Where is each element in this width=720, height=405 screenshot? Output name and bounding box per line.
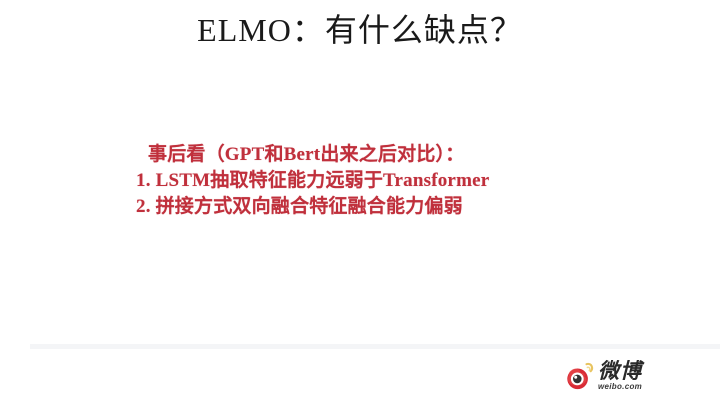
footer-divider-band (30, 344, 720, 349)
slide-body: 事后看（GPT和Bert出来之后对比）： 1. LSTM抽取特征能力远弱于Tra… (136, 142, 606, 220)
body-list-item-1: 1. LSTM抽取特征能力远弱于Transformer (136, 168, 606, 194)
watermark-text-group: 微博 weibo.com (598, 361, 642, 391)
body-lead-line: 事后看（GPT和Bert出来之后对比）： (148, 142, 606, 168)
page-title: ELMO：有什么缺点？ (0, 8, 720, 52)
watermark-url: weibo.com (598, 383, 642, 391)
watermark-brand-name: 微博 (598, 361, 642, 382)
body-list-item-2: 2. 拼接方式双向融合特征融合能力偏弱 (136, 194, 606, 220)
weibo-eye-logo-icon (565, 361, 595, 391)
presentation-slide: ELMO：有什么缺点？ 事后看（GPT和Bert出来之后对比）： 1. LSTM… (0, 0, 720, 405)
weibo-watermark: 微博 weibo.com (565, 358, 690, 394)
